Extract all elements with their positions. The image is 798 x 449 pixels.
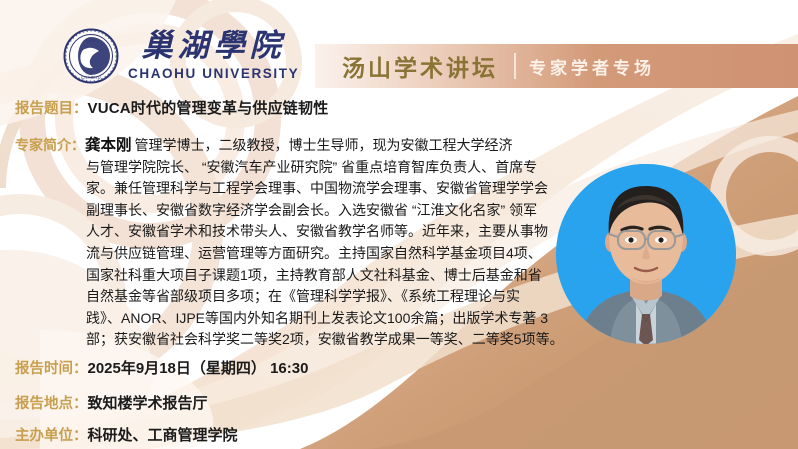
report-time-label: 报告时间： (15, 357, 88, 378)
bio-line: 自然基金等省部级项目多项；在《管理科学学报》、《系统工程理论与实 (15, 286, 563, 308)
logo-name-en: CHAOHU UNIVERSITY (128, 66, 299, 81)
report-title-label: 报告题目： (15, 97, 88, 118)
svg-text:1977: 1977 (87, 38, 97, 43)
bio-line: 专家简介： 龚本刚 管理学博士，二级教授，博士生导师，现为安徽工程大学经济 (15, 135, 563, 157)
report-title-value: VUCA时代的管理变革与供应链韧性 (88, 97, 329, 118)
university-logo: CHAOHU 1977 巢湖學院 CHAOHU UNIVERSITY (63, 28, 299, 84)
chaohu-university-seal-icon: CHAOHU 1977 (63, 28, 119, 84)
banner-divider (514, 53, 516, 79)
logo-name-cn: 巢湖學院 (142, 30, 286, 63)
report-organizer-label: 主办单位： (15, 424, 88, 445)
report-place-value: 致知楼学术报告厅 (88, 392, 208, 413)
report-title-row: 报告题目： VUCA时代的管理变革与供应链韧性 (15, 97, 328, 118)
report-organizer-value: 科研处、工商管理学院 (88, 424, 238, 445)
forum-banner-title: 汤山学术讲坛 (342, 49, 498, 83)
poster-header: CHAOHU 1977 巢湖學院 CHAOHU UNIVERSITY 汤山学术讲… (0, 0, 798, 92)
bio-line: 副理事长、安徽省数字经济学会副会长。入选安徽省 “江淮文化名家” 领军 (15, 200, 563, 222)
bio-line-text: 管理学博士，二级教授，博士生导师，现为安徽工程大学经济 (135, 135, 513, 157)
bio-line: 部；获安徽省社会科学奖二等奖2项，安徽省教学成果一等奖、二等奖5项等。 (15, 329, 563, 351)
report-place-row: 报告地点： 致知楼学术报告厅 (15, 392, 208, 413)
bio-line: 家。兼任管理科学与工程学会理事、中国物流学会理事、安徽省管理学学会 (15, 178, 563, 200)
forum-banner: 汤山学术讲坛 专家学者专场 (315, 44, 798, 88)
bio-line: 流与供应链管理、运营管理等方面研究。主持国家自然科学基金项目4项、 (15, 243, 563, 265)
logo-text-group: 巢湖學院 CHAOHU UNIVERSITY (128, 28, 299, 81)
report-place-label: 报告地点： (15, 392, 88, 413)
bio-line: 与管理学院院长、 “安徽汽车产业研究院” 省重点培育智库负责人、首席专 (15, 157, 563, 179)
bio-line: 践》、ANOR、IJPE等国内外知名期刊上发表论文100余篇；出版学术专著 3 (15, 308, 563, 330)
bio-line: 人才、安徽省学术和技术带头人、安徽省教学名师等。近年来，主要从事物 (15, 221, 563, 243)
forum-banner-subtitle: 专家学者专场 (529, 54, 655, 79)
speaker-portrait-photo (556, 164, 736, 344)
speaker-bio-label: 专家简介： (15, 135, 85, 157)
speaker-bio-block: 专家简介： 龚本刚 管理学博士，二级教授，博士生导师，现为安徽工程大学经济 与管… (15, 135, 563, 351)
svg-text:CHAOHU: CHAOHU (81, 75, 101, 80)
report-organizer-row: 主办单位： 科研处、工商管理学院 (15, 424, 238, 445)
lecture-poster: CHAOHU 1977 巢湖學院 CHAOHU UNIVERSITY 汤山学术讲… (0, 0, 798, 449)
speaker-name: 龚本刚 (85, 135, 132, 157)
report-time-value: 2025年9月18日（星期四） 16:30 (88, 357, 309, 378)
report-time-row: 报告时间： 2025年9月18日（星期四） 16:30 (15, 357, 308, 378)
bio-line: 国家社科重大项目子课题1项，主持教育部人文社科基金、博士后基金和省 (15, 265, 563, 287)
